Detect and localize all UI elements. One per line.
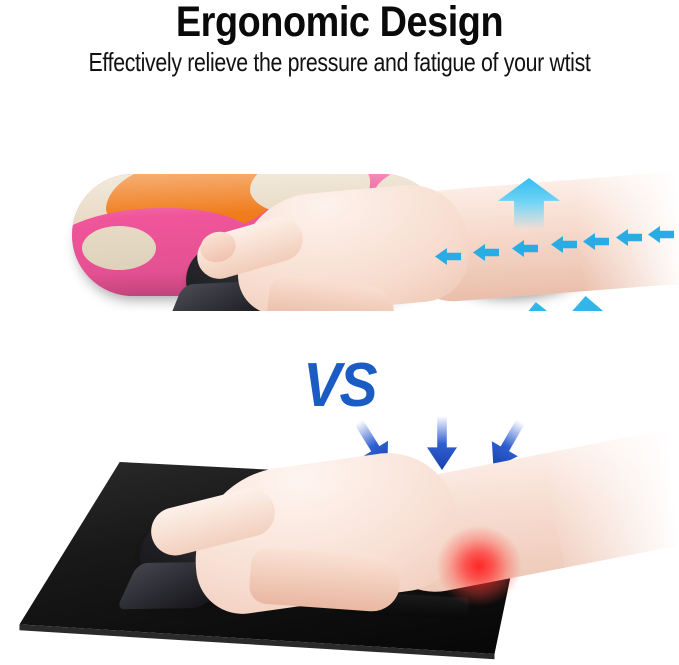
wrist-pressure-point-glow (424, 514, 534, 618)
page-title: Ergonomic Design (41, 0, 639, 47)
ergonomic-scene (0, 86, 679, 311)
page-subtitle: Effectively relieve the pressure and fat… (61, 47, 618, 78)
camo-blob-cream-3 (82, 226, 156, 270)
camo-blob-orange (106, 174, 274, 232)
flat-pad-scene (0, 400, 679, 665)
camo-blob-cream (72, 174, 208, 250)
product-comparison-image: Ergonomic Design Effectively relieve the… (0, 0, 679, 665)
cushion-support-arrow-icon-1 (518, 300, 558, 311)
cushion-support-arrow-icon-2 (568, 295, 607, 311)
thumb-bottom (248, 547, 402, 613)
